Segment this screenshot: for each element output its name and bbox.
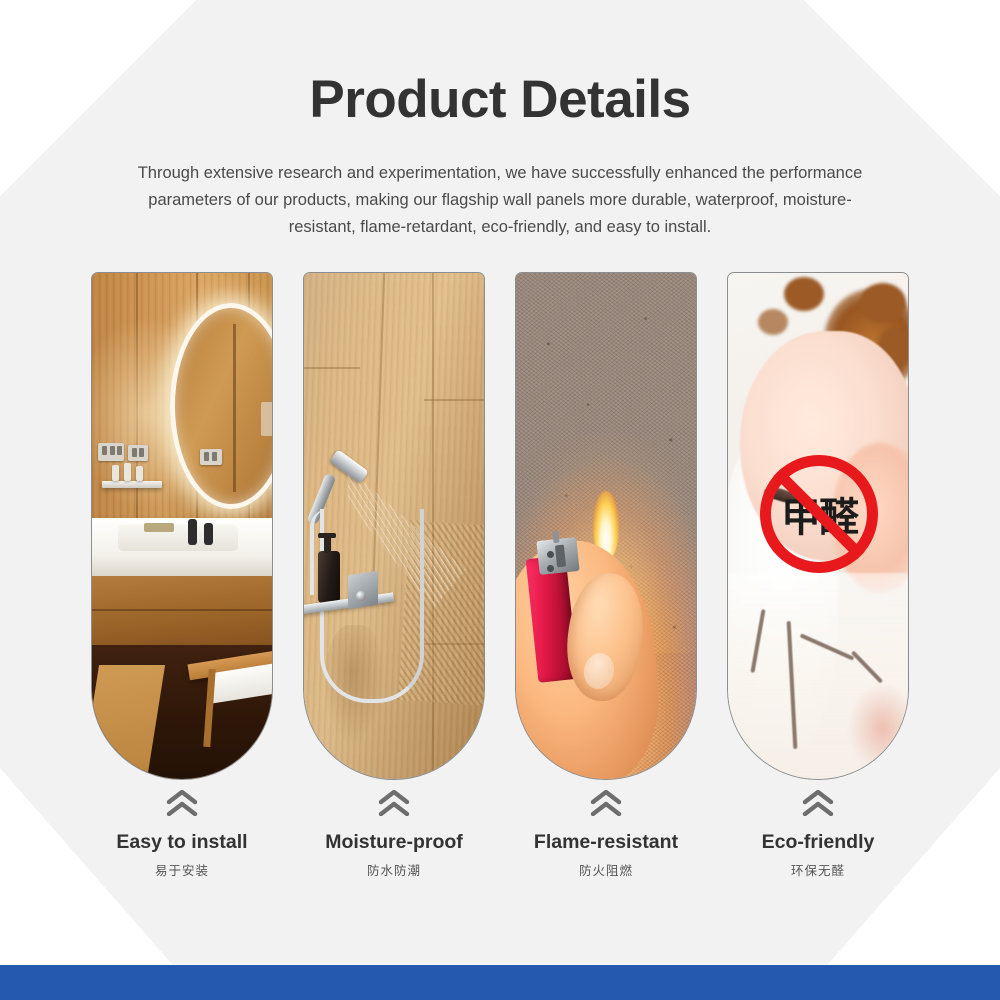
- feature-label-en: Flame-resistant: [515, 830, 697, 854]
- double-chevron-up-icon: [589, 790, 623, 816]
- feature-caption: Eco-friendly 环保无醛: [727, 790, 909, 879]
- feature-label-en: Easy to install: [91, 830, 273, 854]
- double-chevron-up-icon: [801, 790, 835, 816]
- feature-item-easy-to-install[interactable]: Easy to install 易于安装: [91, 272, 273, 780]
- feature-item-eco-friendly[interactable]: 甲醛 Eco-friendly 环保无醛: [727, 272, 909, 780]
- feature-item-moisture-proof[interactable]: Moisture-proof 防水防潮: [303, 272, 485, 780]
- product-details-page: Product Details Through extensive resear…: [0, 0, 1000, 1000]
- feature-label-zh: 环保无醛: [727, 863, 909, 879]
- feature-image-panel: [91, 272, 273, 780]
- feature-label-en: Eco-friendly: [727, 830, 909, 854]
- feature-caption: Flame-resistant 防火阻燃: [515, 790, 697, 879]
- double-chevron-up-icon: [377, 790, 411, 816]
- page-subtitle: Through extensive research and experimen…: [120, 160, 880, 241]
- no-formaldehyde-badge: 甲醛: [760, 455, 878, 573]
- feature-caption: Moisture-proof 防水防潮: [303, 790, 485, 879]
- bottom-accent-bar: [0, 965, 1000, 1000]
- feature-label-en: Moisture-proof: [303, 830, 485, 854]
- feature-label-zh: 易于安装: [91, 863, 273, 879]
- feature-label-zh: 防火阻燃: [515, 863, 697, 879]
- flame-test-photo: [516, 273, 696, 779]
- shower-spray-photo: [304, 273, 484, 779]
- feature-image-panel: [303, 272, 485, 780]
- feature-image-panel: [515, 272, 697, 780]
- bathroom-vanity-photo: [92, 273, 272, 779]
- feature-label-zh: 防水防潮: [303, 863, 485, 879]
- feature-caption: Easy to install 易于安装: [91, 790, 273, 879]
- baby-eco-photo: 甲醛: [728, 273, 908, 779]
- page-title: Product Details: [0, 70, 1000, 130]
- double-chevron-up-icon: [165, 790, 199, 816]
- feature-list: Easy to install 易于安装: [0, 272, 1000, 892]
- feature-item-flame-resistant[interactable]: Flame-resistant 防火阻燃: [515, 272, 697, 780]
- feature-image-panel: 甲醛: [727, 272, 909, 780]
